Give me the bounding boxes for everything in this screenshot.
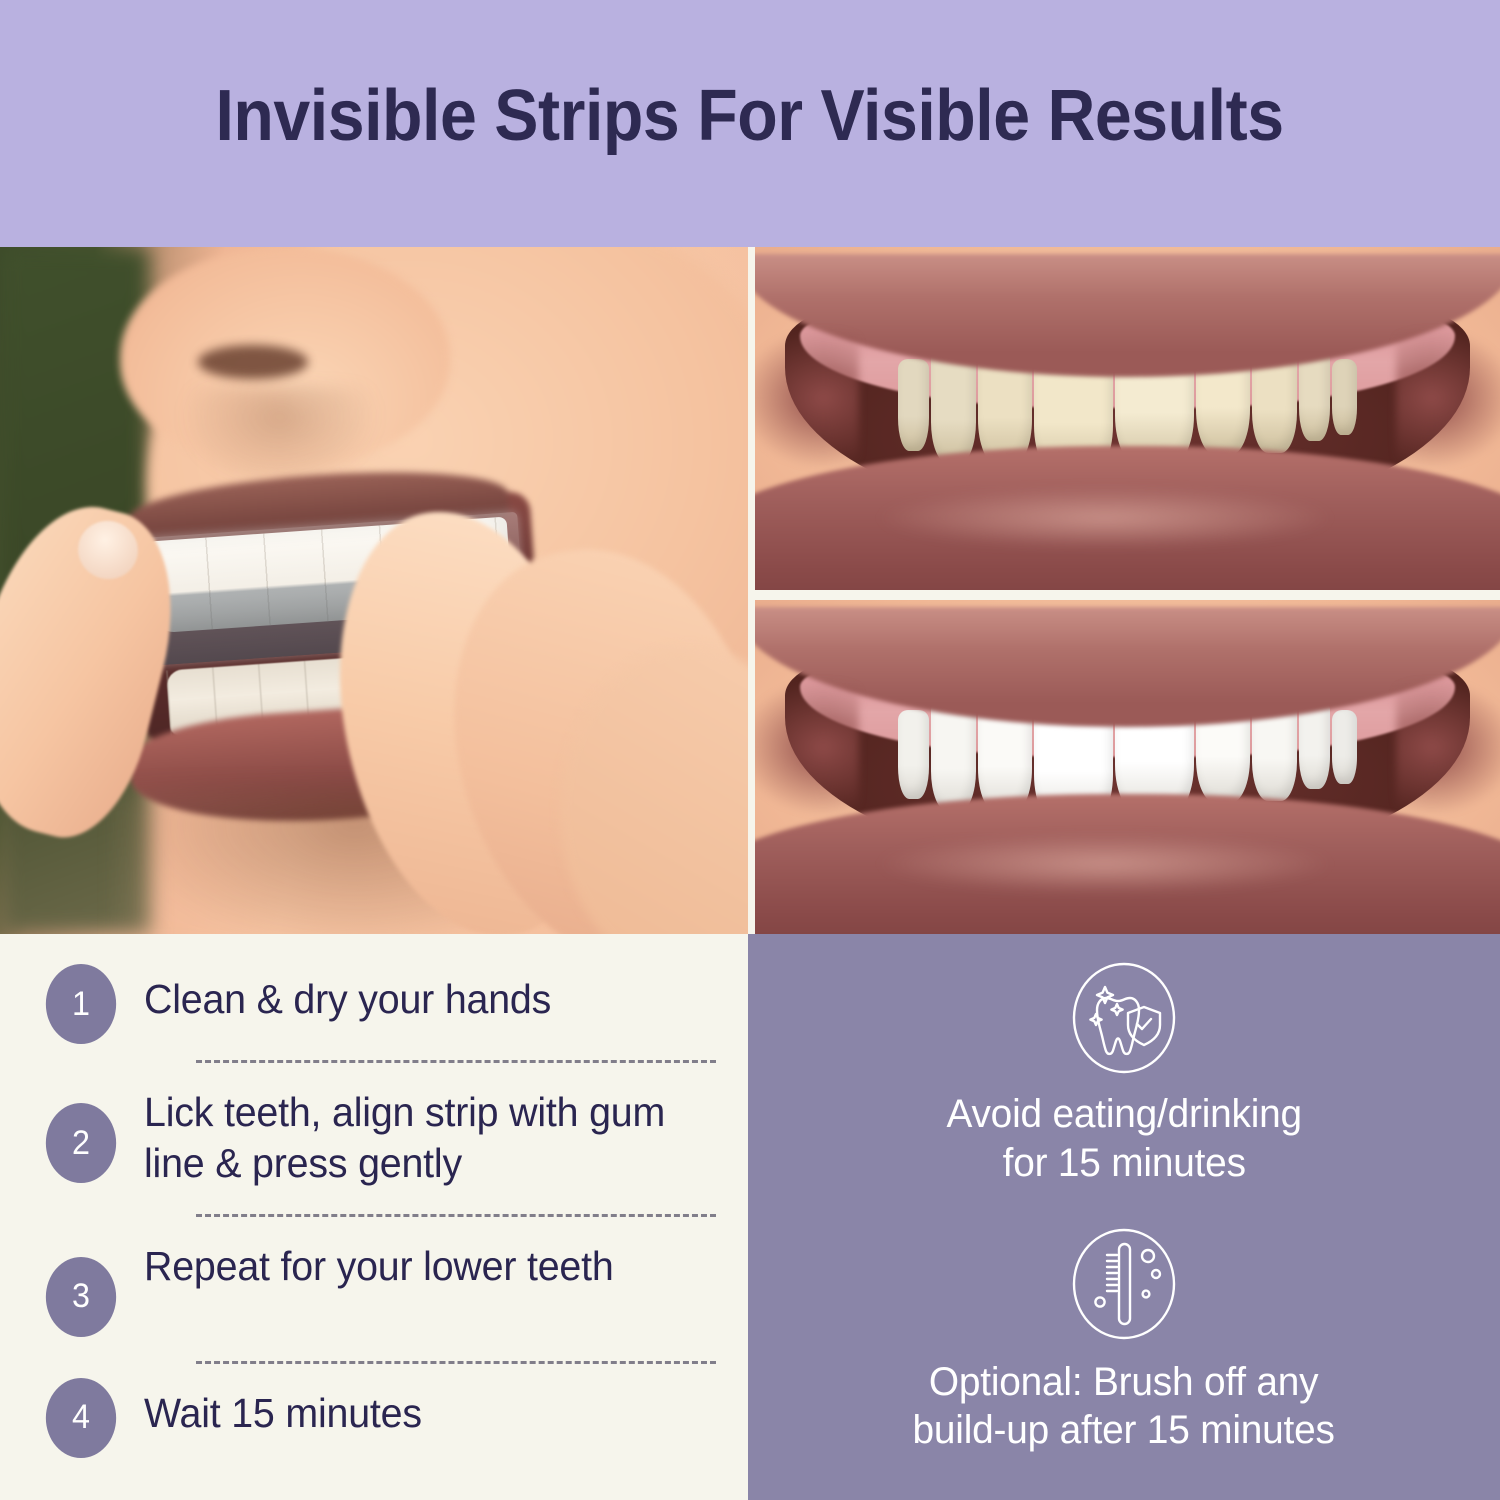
mouth-corner-right	[1396, 329, 1500, 466]
step-divider	[196, 1060, 716, 1063]
step-number-badge: 2	[46, 1103, 116, 1183]
infographic-page: Invisible Strips For Visible Results	[0, 0, 1500, 1500]
photo-teeth-after	[755, 600, 1500, 934]
tip-line-2: for 15 minutes	[1002, 1141, 1245, 1185]
tip-line-1: Avoid eating/drinking	[946, 1092, 1301, 1136]
step-text: Repeat for your lower teeth	[144, 1231, 614, 1292]
step-divider	[196, 1214, 716, 1217]
step-item-1: 1 Clean & dry your hands	[44, 964, 708, 1044]
tooth	[1332, 710, 1357, 784]
tip-item-2: Optional: Brush off any build-up after 1…	[748, 1222, 1500, 1456]
tooth	[898, 359, 929, 451]
tip-text: Avoid eating/drinking for 15 minutes	[946, 1090, 1301, 1188]
step-number-badge: 3	[46, 1257, 116, 1337]
step-item-3: 3 Repeat for your lower teeth	[44, 1231, 708, 1337]
mouth-corner-left	[755, 680, 859, 814]
step-text: Lick teeth, align strip with gum line & …	[144, 1077, 685, 1190]
step-text: Clean & dry your hands	[144, 964, 551, 1025]
tip-text: Optional: Brush off any build-up after 1…	[913, 1358, 1335, 1456]
tooth-shield-sparkle-icon	[1062, 956, 1186, 1080]
header-banner: Invisible Strips For Visible Results	[0, 0, 1500, 247]
step-item-4: 4 Wait 15 minutes	[44, 1378, 708, 1458]
tooth	[898, 710, 929, 799]
mouth-corner-left	[755, 329, 859, 466]
step-text: Wait 15 minutes	[144, 1378, 422, 1439]
steps-panel: 1 Clean & dry your hands 2 Lick teeth, a…	[0, 934, 748, 1500]
page-title: Invisible Strips For Visible Results	[216, 80, 1284, 168]
mouth-corner-right	[1396, 680, 1500, 814]
step-number-badge: 1	[46, 964, 116, 1044]
tip-line-1: Optional: Brush off any	[929, 1360, 1319, 1404]
toothbrush-icon	[1062, 1222, 1186, 1346]
lower-lip-highlight	[874, 834, 1336, 894]
tip-item-1: Avoid eating/drinking for 15 minutes	[748, 956, 1500, 1188]
photo-band	[0, 247, 1500, 934]
step-item-2: 2 Lick teeth, align strip with gum line …	[44, 1077, 708, 1190]
tooth	[1332, 359, 1357, 435]
photo-applying-strip	[0, 247, 748, 934]
step-divider	[196, 1361, 716, 1364]
philtrum-shadow	[180, 387, 380, 487]
lower-lip-highlight	[874, 487, 1336, 549]
tips-panel: Avoid eating/drinking for 15 minutes	[748, 934, 1500, 1500]
step-number-badge: 4	[46, 1378, 116, 1458]
photo-teeth-before	[755, 247, 1500, 590]
nostril-shape	[198, 345, 308, 379]
tip-line-2: build-up after 15 minutes	[913, 1408, 1335, 1452]
